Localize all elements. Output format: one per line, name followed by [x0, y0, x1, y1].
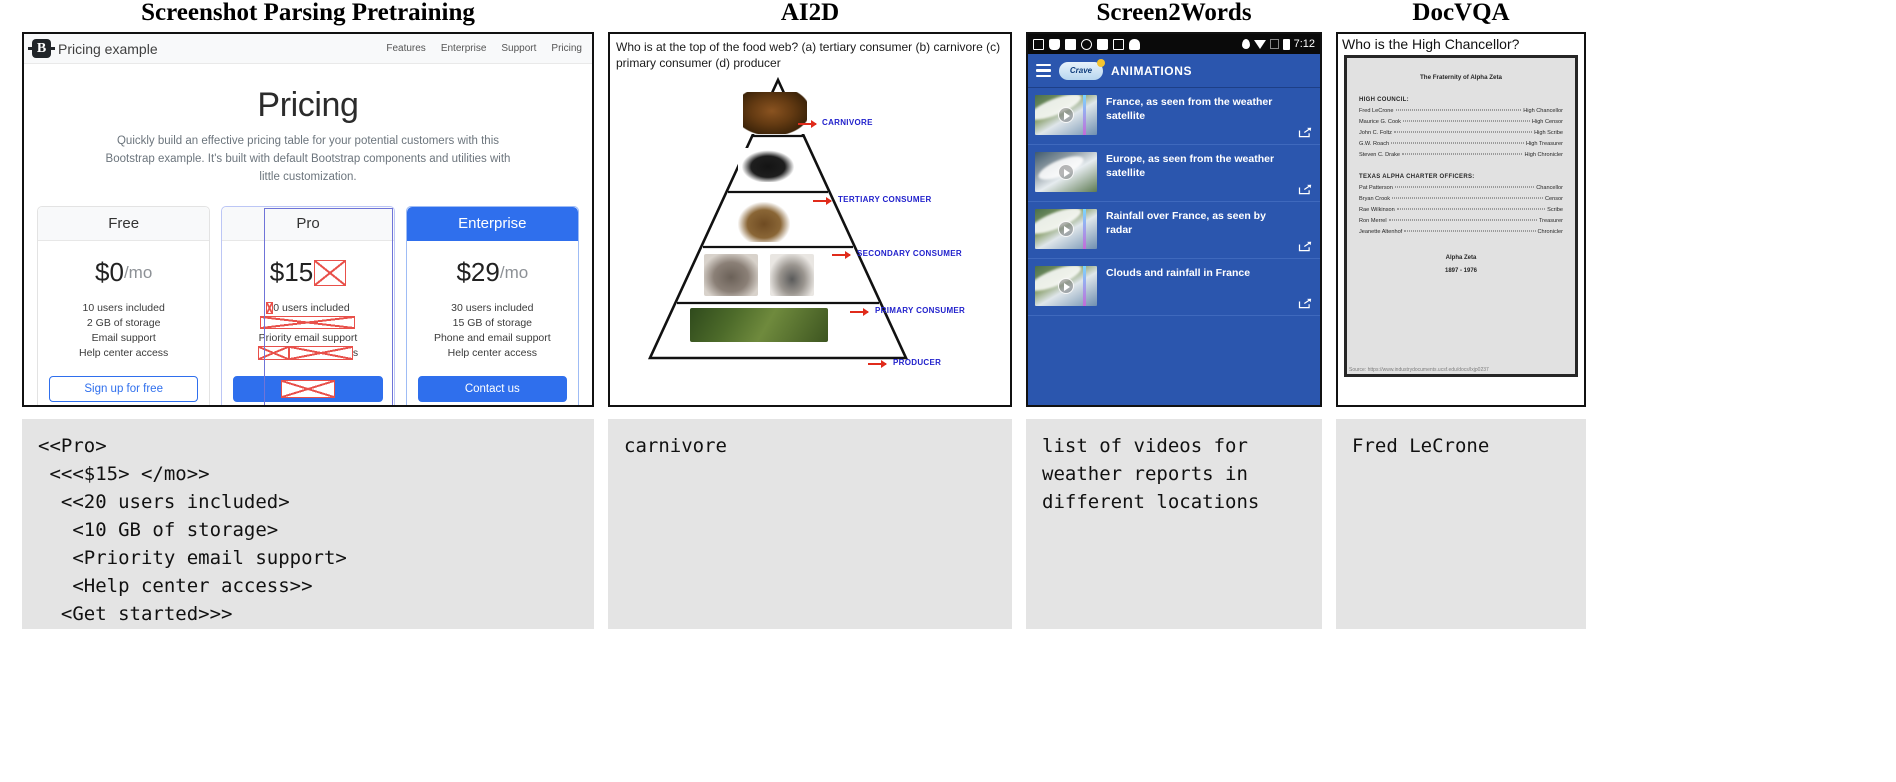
nav-link-support[interactable]: Support — [501, 43, 536, 54]
organism-squirrel-icon — [738, 202, 790, 242]
status-right-icons: 7:12 — [1242, 38, 1315, 50]
column-title: Screenshot Parsing Pretraining — [22, 0, 594, 32]
card-features: 0 users included Priority email support … — [222, 300, 393, 372]
nav-link-pricing[interactable]: Pricing — [551, 43, 582, 54]
price-amount: $0 — [95, 257, 124, 288]
crave-logo-text: Crave — [1070, 66, 1092, 75]
table-row: Steven C. Drake High Chronicler — [1359, 152, 1563, 158]
video-title: Clouds and rainfall in France — [1106, 266, 1272, 281]
officer-name: Steven C. Drake — [1359, 152, 1400, 158]
list-item[interactable]: France, as seen from the weather satelli… — [1028, 88, 1320, 145]
battery-icon — [1283, 39, 1290, 50]
location-icon — [1242, 39, 1250, 49]
pricing-card-free: Free $0/mo 10 users included 2 GB of sto… — [37, 206, 210, 407]
section-title-high-council: HIGH COUNCIL: — [1359, 97, 1563, 103]
arrow-producer-icon — [868, 363, 886, 365]
play-icon[interactable] — [1058, 221, 1074, 237]
android-icon — [1129, 39, 1140, 50]
officer-role: High Treasurer — [1526, 141, 1563, 147]
feature-item-rest: 0 users included — [273, 298, 349, 318]
share-icon[interactable] — [1298, 127, 1312, 138]
officer-role: High Censor — [1532, 119, 1563, 125]
officer-name: Rae Wilkinson — [1359, 207, 1395, 213]
officer-name: G.W. Roach — [1359, 141, 1389, 147]
document-source-line: Source: https://www.industrydocuments.uc… — [1349, 367, 1489, 373]
officer-name: Pat Patterson — [1359, 185, 1393, 191]
label-primary-consumer: PRIMARY CONSUMER — [875, 306, 965, 315]
column-title: DocVQA — [1336, 0, 1586, 32]
feature-item-tail: s — [353, 343, 358, 363]
officer-role: Scribe — [1547, 207, 1563, 213]
organism-bird-icon — [738, 148, 798, 182]
crave-logo-dot — [1097, 59, 1105, 67]
officer-role: High Chronicler — [1524, 152, 1563, 158]
list-item[interactable]: Europe, as seen from the weather satelli… — [1028, 145, 1320, 202]
video-title: Europe, as seen from the weather satelli… — [1106, 152, 1312, 180]
parse-output-text: <<Pro> <<<$15> </mo>> <<20 users include… — [22, 419, 594, 629]
video-title: France, as seen from the weather satelli… — [1106, 95, 1312, 123]
leader-dots — [1404, 231, 1535, 232]
officer-name: Fred LeCrone — [1359, 108, 1394, 114]
video-thumbnail[interactable] — [1035, 152, 1097, 192]
card-title: Free — [38, 207, 209, 241]
leader-dots — [1402, 154, 1522, 155]
docvqa-answer-text: Fred LeCrone — [1336, 419, 1586, 629]
feature-item-masked-prefix: 0 users included — [222, 300, 393, 315]
label-producer: PRODUCER — [893, 358, 941, 367]
feature-item: Priority email support — [222, 330, 393, 345]
arrow-primary-icon — [850, 311, 868, 313]
pricing-hero: Pricing Quickly build an effective prici… — [24, 64, 592, 192]
column-screen2words: Screen2Words 7:12 — [1026, 0, 1322, 629]
leader-dots — [1391, 143, 1524, 144]
pricing-card-enterprise: Enterprise $29/mo 30 users included 15 G… — [406, 206, 579, 407]
wifi-icon — [1254, 40, 1266, 49]
table-row: John C. Foltz High Scribe — [1359, 130, 1563, 136]
leader-dots — [1394, 132, 1532, 133]
navbar: B Pricing example Features Enterprise Su… — [24, 34, 592, 64]
organism-rabbit-icon — [770, 254, 814, 296]
masked-price-period — [314, 260, 346, 286]
arrow-secondary-icon — [832, 254, 850, 256]
play-icon[interactable] — [1058, 107, 1074, 123]
leader-dots — [1396, 110, 1522, 111]
navbar-brand[interactable]: Pricing example — [58, 41, 158, 57]
card-price: $29/mo — [407, 241, 578, 300]
masked-help-a — [258, 346, 289, 360]
clipboard-icon — [1113, 39, 1124, 50]
officer-name: Jeanette Altenhof — [1359, 229, 1402, 235]
signup-free-button[interactable]: Sign up for free — [49, 376, 198, 402]
list-item[interactable]: Rainfall over France, as seen by radar — [1028, 202, 1320, 259]
table-row: Jeanette Altenhof Chronicler — [1359, 229, 1563, 235]
video-title: Rainfall over France, as seen by radar — [1106, 209, 1312, 237]
figure-root: Screenshot Parsing Pretraining B Pricing… — [0, 0, 1896, 782]
facebook-icon — [1065, 39, 1076, 50]
column-docvqa: DocVQA Who is the High Chancellor? The F… — [1336, 0, 1586, 629]
nav-link-enterprise[interactable]: Enterprise — [441, 43, 487, 54]
get-started-button[interactable] — [233, 376, 382, 402]
document-footer: Alpha Zeta 1897 - 1976 — [1359, 255, 1563, 274]
table-row: Rae Wilkinson Scribe — [1359, 207, 1563, 213]
price-amount: $29 — [456, 257, 499, 288]
column-title: Screen2Words — [1026, 0, 1322, 32]
contact-us-button[interactable]: Contact us — [418, 376, 567, 402]
officer-role: High Scribe — [1534, 130, 1563, 136]
crave-logo-icon: Crave — [1059, 62, 1103, 80]
card-title: Pro — [222, 207, 393, 241]
section-title-texas-alpha: TEXAS ALPHA CHARTER OFFICERS: — [1359, 174, 1563, 180]
masked-digit — [266, 302, 273, 314]
label-tertiary-consumer: TERTIARY CONSUMER — [838, 195, 932, 204]
share-icon[interactable] — [1298, 241, 1312, 252]
mobile-app-panel: 7:12 Crave ANIMATIONS — [1026, 32, 1322, 407]
column-screenshot-parsing: Screenshot Parsing Pretraining B Pricing… — [22, 0, 594, 629]
price-period: /mo — [500, 263, 528, 283]
card-price: $15 — [222, 241, 393, 300]
video-thumbnail[interactable] — [1035, 266, 1097, 306]
organism-plants-icon — [690, 308, 828, 342]
leader-dots — [1392, 198, 1543, 199]
status-clock: 7:12 — [1294, 38, 1315, 50]
officer-name: Maurice G. Cook — [1359, 119, 1401, 125]
officer-role: High Chancellor — [1523, 108, 1563, 114]
leader-dots — [1389, 220, 1537, 221]
feature-item: Help center access — [407, 345, 578, 360]
nav-link-features[interactable]: Features — [386, 43, 425, 54]
officer-role: Treasurer — [1539, 218, 1563, 224]
masked-storage-line — [260, 316, 355, 329]
app-bar-title: ANIMATIONS — [1111, 64, 1192, 78]
feature-item: Help center access — [38, 345, 209, 360]
ai2d-panel: Who is at the top of the food web? (a) t… — [608, 32, 1012, 407]
officer-name: Bryan Crook — [1359, 196, 1390, 202]
organism-lion-icon — [743, 92, 807, 134]
table-row: Maurice G. Cook High Censor — [1359, 119, 1563, 125]
card-title: Enterprise — [407, 207, 578, 241]
officer-role: Chronicler — [1538, 229, 1564, 235]
food-pyramid-diagram: CARNIVORE TERTIARY CONSUMER SECONDARY CO… — [610, 74, 1010, 374]
game-icon — [1049, 39, 1060, 50]
table-row: G.W. Roach High Treasurer — [1359, 141, 1563, 147]
info-icon — [1081, 39, 1092, 50]
card-features: 10 users included 2 GB of storage Email … — [38, 300, 209, 372]
table-row: Fred LeCrone High Chancellor — [1359, 108, 1563, 114]
footer-years: 1897 - 1976 — [1359, 268, 1563, 274]
share-icon[interactable] — [1298, 184, 1312, 195]
signal-icon — [1270, 39, 1279, 49]
officer-role: Chancellor — [1536, 185, 1563, 191]
column-ai2d: AI2D Who is at the top of the food web? … — [608, 0, 1012, 629]
leader-dots — [1403, 121, 1530, 122]
docvqa-panel: Who is the High Chancellor? The Fraterni… — [1336, 32, 1586, 407]
android-status-bar: 7:12 — [1028, 34, 1320, 54]
page-subtitle: Quickly build an effective pricing table… — [101, 133, 516, 186]
scanned-document: The Fraternity of Alpha Zeta HIGH COUNCI… — [1344, 55, 1578, 377]
officer-role: Censor — [1545, 196, 1563, 202]
pricing-example-panel: B Pricing example Features Enterprise Su… — [22, 32, 594, 407]
leader-dots — [1395, 187, 1534, 188]
footer-name: Alpha Zeta — [1359, 255, 1563, 261]
ai2d-answer-text: carnivore — [608, 419, 1012, 629]
sim-icon — [1033, 39, 1044, 50]
masked-help-b — [289, 346, 353, 360]
docvqa-question: Who is the High Chancellor? — [1338, 34, 1584, 55]
label-carnivore: CARNIVORE — [822, 118, 873, 127]
video-list: France, as seen from the weather satelli… — [1028, 88, 1320, 407]
table-row: Ron Merrel Treasurer — [1359, 218, 1563, 224]
card-features: 30 users included 15 GB of storage Phone… — [407, 300, 578, 372]
status-left-icons — [1033, 39, 1140, 50]
price-amount: $15 — [270, 257, 313, 288]
price-period: /mo — [124, 263, 152, 283]
pricing-card-pro: Pro $15 0 users included Priority email … — [221, 206, 394, 407]
leader-dots — [1397, 209, 1545, 210]
table-row: Pat Patterson Chancellor — [1359, 185, 1563, 191]
ai2d-question: Who is at the top of the food web? (a) t… — [610, 34, 1010, 74]
label-secondary-consumer: SECONDARY CONSUMER — [857, 249, 962, 258]
card-price: $0/mo — [38, 241, 209, 300]
video-thumbnail[interactable] — [1035, 209, 1097, 249]
hamburger-icon[interactable] — [1036, 64, 1051, 78]
document-heading: The Fraternity of Alpha Zeta — [1359, 74, 1563, 81]
arrow-carnivore-icon — [798, 123, 816, 125]
play-icon[interactable] — [1058, 164, 1074, 180]
column-title: AI2D — [608, 0, 1012, 32]
bootstrap-logo-icon: B — [32, 39, 51, 58]
app-bar: Crave ANIMATIONS — [1028, 54, 1320, 88]
masked-cta-label — [281, 380, 335, 398]
officer-name: John C. Foltz — [1359, 130, 1392, 136]
navbar-links: Features Enterprise Support Pricing — [386, 43, 582, 54]
screen2words-answer-text: list of videos for weather reports in di… — [1026, 419, 1322, 629]
play-icon[interactable] — [1058, 278, 1074, 294]
share-icon[interactable] — [1298, 298, 1312, 309]
video-thumbnail[interactable] — [1035, 95, 1097, 135]
page-title: Pricing — [24, 86, 592, 125]
arrow-tertiary-icon — [813, 200, 831, 202]
table-row: Bryan Crook Censor — [1359, 196, 1563, 202]
feature-item-masked: s — [222, 345, 393, 360]
lock-icon — [1097, 39, 1108, 50]
officer-name: Ron Merrel — [1359, 218, 1387, 224]
organism-mouse-icon — [704, 254, 758, 296]
pricing-cards: Free $0/mo 10 users included 2 GB of sto… — [24, 192, 592, 407]
list-item[interactable]: Clouds and rainfall in France — [1028, 259, 1320, 316]
feature-item-masked — [222, 315, 393, 330]
